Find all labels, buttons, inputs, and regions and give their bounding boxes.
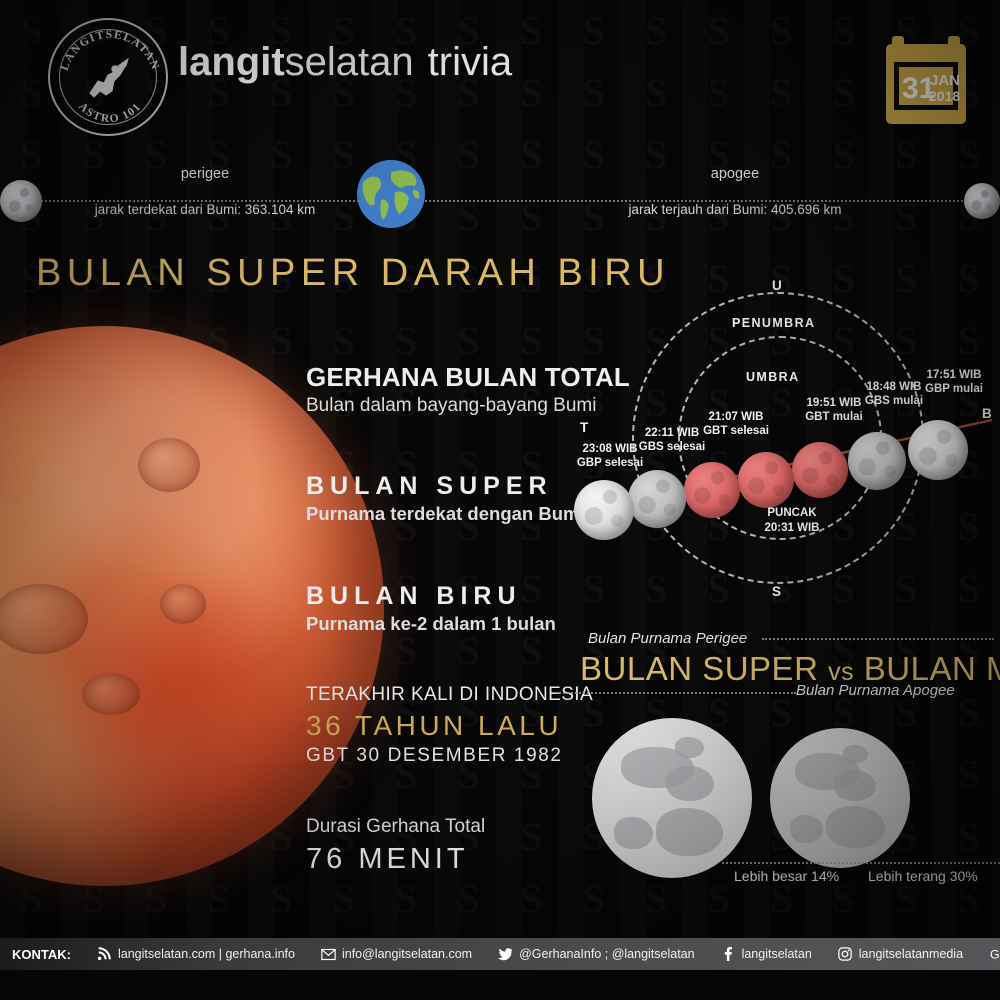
calendar-icon: 31 JAN 2018 (880, 32, 972, 130)
googleplus-icon: G (989, 947, 1000, 962)
calendar-year: 2018 (929, 88, 960, 104)
phase-label-2: 21:07 WIB GBT selesai (690, 410, 782, 438)
phase-2-time: 21:07 WIB (709, 411, 764, 423)
eclipse-moon-gbt-mulai (792, 442, 848, 498)
phase-4-event: GBS mulai (865, 395, 923, 407)
phase-2-event: GBT selesai (703, 425, 769, 437)
phase-label-5: 17:51 WIB GBP mulai (908, 368, 1000, 396)
last-occurrence-value: 36 TAHUN LALU (306, 710, 593, 742)
sagittarius-seal-icon (82, 53, 134, 105)
compare-dotline-top (762, 638, 994, 640)
perigee-label: perigee (100, 166, 310, 182)
eclipse-path-diagram: U S T B PENUMBRA UMBRA 23:08 WIB GBP sel… (556, 272, 1000, 612)
infographic-canvas: SSSSSSSSSSSSSSSSSSSSSSSSSSSSSSSSSSSSSSSS… (0, 0, 1000, 1000)
duration-block: Durasi Gerhana Total 76 MENIT (306, 816, 485, 876)
header: LANGITSELATAN ASTRO 101 langitselatantri… (0, 0, 1000, 150)
phase-1-event: GBS selesai (639, 441, 705, 453)
apogee-moon-icon (964, 183, 1000, 219)
svg-text:G: G (990, 947, 1000, 961)
kontak-label: KONTAK: (12, 947, 71, 962)
compare-dotline-bottom (556, 692, 796, 694)
peak-time: 20:31 WIB (765, 522, 820, 534)
rss-icon (97, 947, 112, 962)
note-size: Lebih besar 14% (734, 868, 839, 884)
footer-twitter-text: @GerhanaInfo ; @langitselatan (519, 947, 694, 961)
eclipse-moon-puncak (738, 452, 794, 508)
feature-1-sub: Purnama terdekat dengan Bumi (306, 503, 585, 525)
peak-label: PUNCAK (767, 507, 816, 519)
last-occurrence-kicker: TERAKHIR KALI DI INDONESIA (306, 684, 593, 706)
duration-value: 76 MENIT (306, 843, 485, 876)
footer-item-email[interactable]: info@langitselatan.com (321, 947, 472, 962)
feature-bulan-biru: BULAN BIRU Purnama ke-2 dalam 1 bulan (306, 582, 556, 635)
envelope-icon (321, 947, 336, 962)
brand-title: langitselatantrivia (178, 40, 512, 84)
phase-3-event: GBT mulai (805, 411, 863, 423)
calendar-month: JAN (930, 72, 960, 89)
feature-bulan-super: BULAN SUPER Purnama terdekat dengan Bumi (306, 472, 585, 525)
footer-item-website[interactable]: langitselatan.com | gerhana.info (97, 947, 295, 962)
footer-instagram-text: langitselatanmedia (859, 947, 963, 961)
footer-item-facebook[interactable]: langitselatan (721, 947, 812, 962)
perigee-apogee-band: perigee jarak terdekat dari Bumi: 363.10… (0, 150, 1000, 250)
footer-bottom-pad (0, 970, 1000, 1000)
brand-selatan: selatan (285, 40, 414, 84)
duration-kicker: Durasi Gerhana Total (306, 816, 485, 838)
apogee-detail: jarak terjauh dari Bumi: 405.696 km (585, 202, 885, 217)
brand-trivia: trivia (428, 40, 512, 84)
twitter-icon (498, 947, 513, 962)
feature-2-head: BULAN BIRU (306, 582, 556, 611)
compare-kicker-top: Bulan Purnama Perigee (588, 630, 747, 647)
instagram-icon (838, 947, 853, 962)
facebook-icon (721, 947, 736, 962)
eclipse-moon-gbp-selesai (574, 480, 634, 540)
brand-langit: langit (178, 40, 285, 84)
footer-item-twitter[interactable]: @GerhanaInfo ; @langitselatan (498, 947, 694, 962)
feature-2-sub: Purnama ke-2 dalam 1 bulan (306, 613, 556, 635)
last-occurrence-block: TERAKHIR KALI DI INDONESIA 36 TAHUN LALU… (306, 684, 593, 767)
apogee-label: apogee (630, 166, 840, 182)
contact-footer: KONTAK: langitselatan.com | gerhana.info… (0, 938, 1000, 970)
eclipse-moon-gbs-mulai (848, 432, 906, 490)
supermoon-vs-minimoon-section: Bulan Purnama Perigee BULAN SUPER vs BUL… (556, 630, 1000, 898)
perigee-detail: jarak terdekat dari Bumi: 363.104 km (60, 202, 350, 217)
eclipse-moon-gbp-mulai (908, 420, 968, 480)
footer-website-text: langitselatan.com | gerhana.info (118, 947, 295, 961)
compare-title-left: BULAN SUPER (580, 650, 818, 687)
langitselatan-seal-logo: LANGITSELATAN ASTRO 101 (48, 18, 168, 136)
peak-label-block: PUNCAK 20:31 WIB (742, 506, 842, 536)
footer-email-text: info@langitselatan.com (342, 947, 472, 961)
eclipse-moon-gbs-selesai (628, 470, 686, 528)
note-bright: Lebih terang 30% (868, 868, 978, 884)
compare-kicker-bottom: Bulan Purnama Apogee (796, 682, 955, 699)
phase-5-time: 17:51 WIB (927, 369, 982, 381)
eclipse-moon-gbt-selesai (684, 462, 740, 518)
footer-item-googleplus[interactable]: G +LangitselatanMedia (989, 947, 1000, 962)
earth-globe-icon (357, 160, 425, 228)
supermoon-disc (592, 718, 752, 878)
minimoon-disc (770, 728, 910, 868)
perigee-moon-icon (0, 180, 42, 222)
last-occurrence-note: GBT 30 DESEMBER 1982 (306, 745, 593, 767)
phase-5-event: GBP mulai (925, 383, 983, 395)
compare-dotline-notes (722, 862, 1000, 864)
feature-1-head: BULAN SUPER (306, 472, 585, 501)
footer-facebook-text: langitselatan (742, 947, 812, 961)
footer-item-instagram[interactable]: langitselatanmedia (838, 947, 963, 962)
phase-0-event: GBP selesai (577, 457, 643, 469)
